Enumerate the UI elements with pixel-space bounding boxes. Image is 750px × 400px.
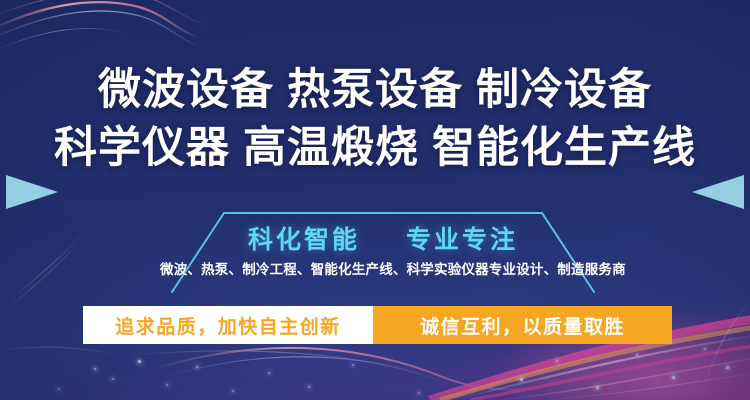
service-description: 微波、热泵、制冷工程、智能化生产线、科学实验仪器专业设计、制造服务商 <box>160 258 606 278</box>
triangle-right-icon-left <box>6 175 58 209</box>
headline: 微波设备 热泵设备 制冷设备 科学仪器 高温煅烧 智能化生产线 <box>0 62 750 177</box>
triangle-right-icon-right <box>692 175 744 209</box>
headline-line-1: 微波设备 热泵设备 制冷设备 <box>0 62 750 120</box>
slogan-frame: 科化智能 专业专注 微波、热泵、制冷工程、智能化生产线、科学实验仪器专业设计、制… <box>168 206 598 294</box>
pill-quality[interactable]: 追求品质，加快自主创新 <box>83 306 373 344</box>
slogan-right: 专业专注 <box>406 226 518 254</box>
pill-integrity[interactable]: 诚信互利，以质量取胜 <box>373 306 672 344</box>
slogan-pill-row: 追求品质，加快自主创新 诚信互利，以质量取胜 <box>83 306 672 344</box>
slogan-left: 科化智能 <box>248 226 360 254</box>
promo-banner: 微波设备 热泵设备 制冷设备 科学仪器 高温煅烧 智能化生产线 科化智能 专业专… <box>0 0 750 400</box>
slogan-row: 科化智能 专业专注 <box>168 220 598 256</box>
headline-line-2: 科学仪器 高温煅烧 智能化生产线 <box>0 120 750 178</box>
